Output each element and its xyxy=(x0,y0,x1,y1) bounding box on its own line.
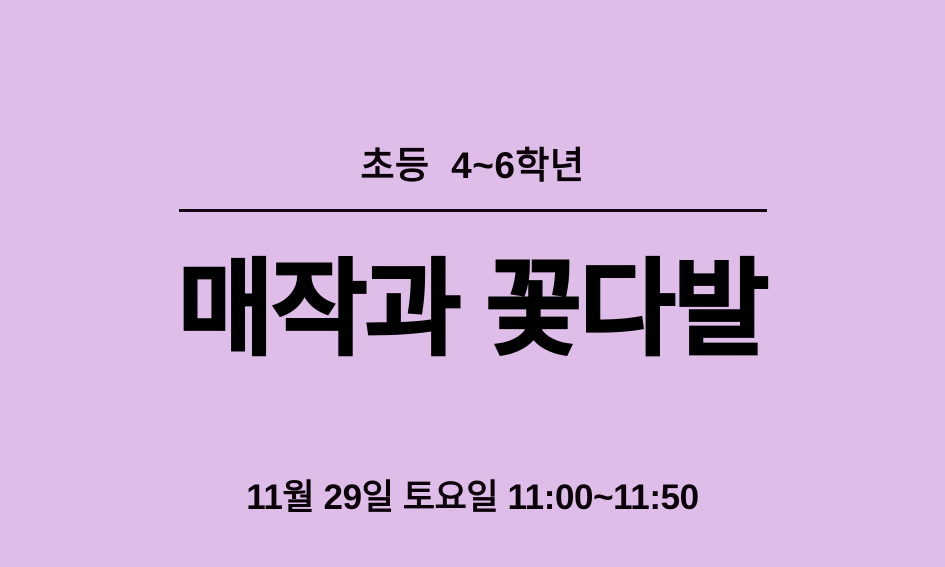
event-poster: 초등 4~6학년 매작과 꽃다발 11월 29일 토요일 11:00~11:50 xyxy=(0,0,945,567)
page-title: 매작과 꽃다발 xyxy=(178,258,767,362)
title-divider xyxy=(179,209,767,212)
grade-level-label: 초등 4~6학년 xyxy=(361,139,585,191)
event-datetime-label: 11월 29일 토요일 11:00~11:50 xyxy=(246,480,699,515)
poster-content: 초등 4~6학년 매작과 꽃다발 11월 29일 토요일 11:00~11:50 xyxy=(173,0,773,515)
